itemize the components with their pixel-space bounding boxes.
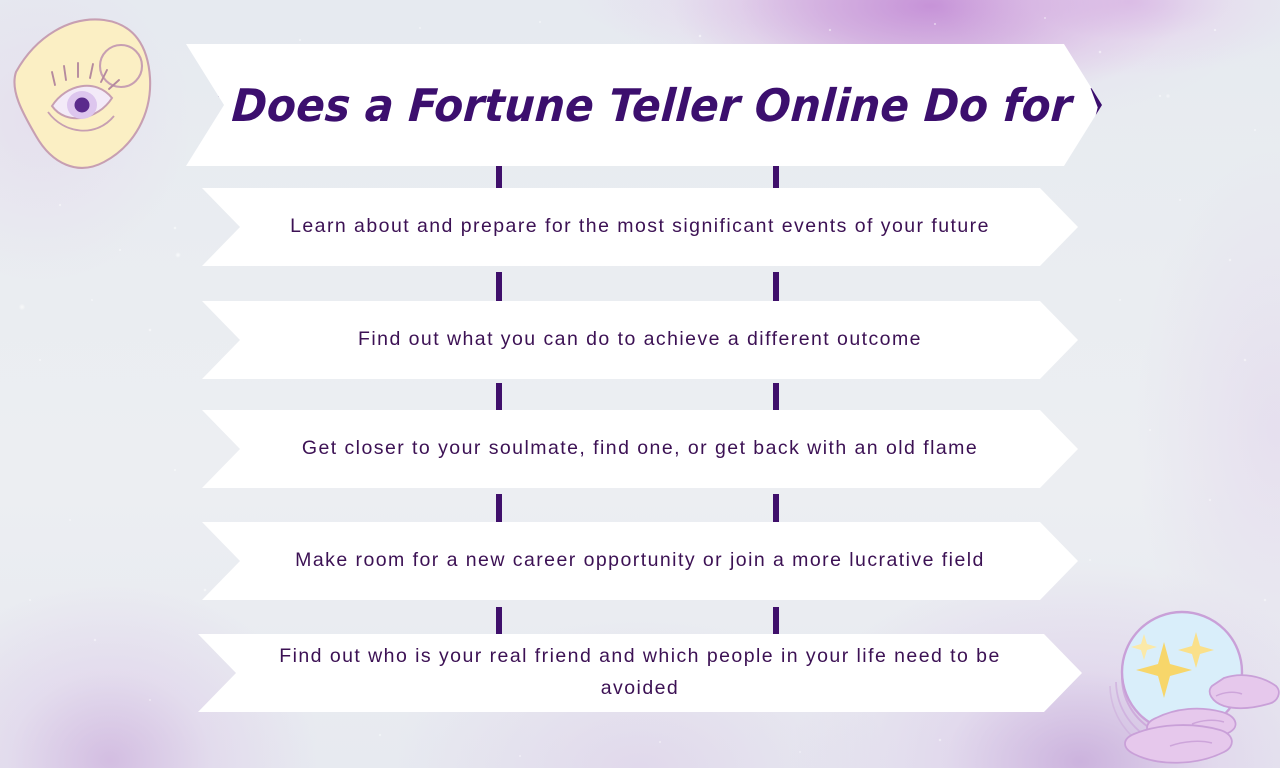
list-item-3-label: Get closer to your soulmate, find one, o… xyxy=(244,433,1036,465)
connector-bar-right-2 xyxy=(773,272,779,304)
list-item-5: Find out who is your real friend and whi… xyxy=(198,634,1082,712)
connector-bar-left-4 xyxy=(496,494,502,525)
connector-bar-left-3 xyxy=(496,383,502,414)
connector-bar-left-5 xyxy=(496,607,502,638)
connector-bar-left-2 xyxy=(496,272,502,304)
title-banner: What Does a Fortune Teller Online Do for… xyxy=(186,44,1102,166)
list-item-2: Find out what you can do to achieve a di… xyxy=(202,301,1078,379)
connector-bar-right-4 xyxy=(773,494,779,525)
connector-bar-right-5 xyxy=(773,607,779,638)
list-item-4-label: Make room for a new career opportunity o… xyxy=(237,545,1043,577)
list-item-3: Get closer to your soulmate, find one, o… xyxy=(202,410,1078,488)
list-item-4: Make room for a new career opportunity o… xyxy=(202,522,1078,600)
list-item-1-label: Learn about and prepare for the most sig… xyxy=(232,211,1048,243)
list-item-1: Learn about and prepare for the most sig… xyxy=(202,188,1078,266)
connector-bar-right-3 xyxy=(773,383,779,414)
list-item-2-label: Find out what you can do to achieve a di… xyxy=(300,324,980,356)
list-item-5-label: Find out who is your real friend and whi… xyxy=(198,641,1082,704)
infographic-canvas: What Does a Fortune Teller Online Do for… xyxy=(0,0,1280,768)
crystal-ball-icon xyxy=(1096,600,1280,768)
page-title: What Does a Fortune Teller Online Do for… xyxy=(90,83,1198,128)
ouija-planchette-icon xyxy=(8,6,184,176)
